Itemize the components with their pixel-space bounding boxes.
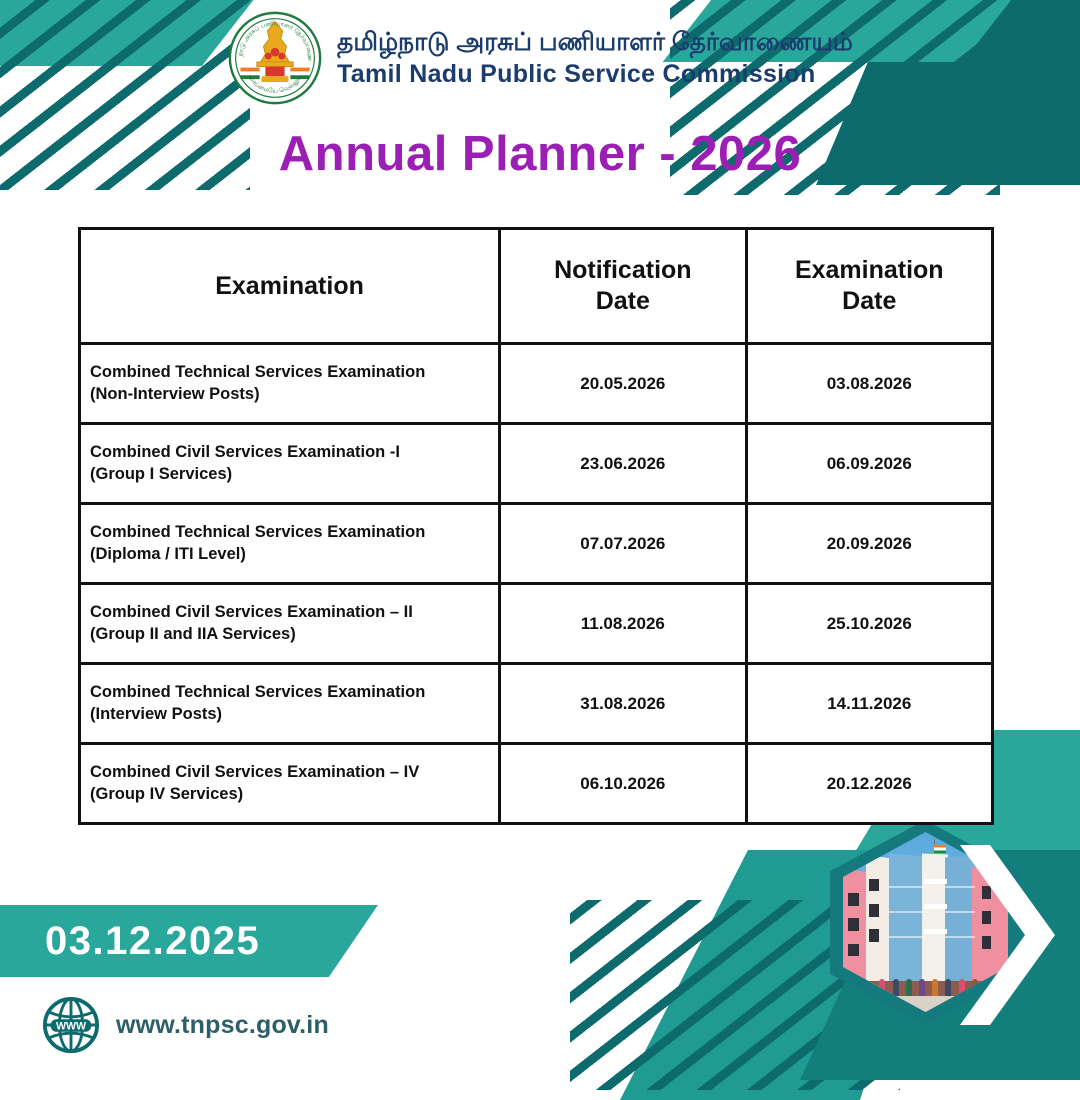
table-row: Combined Technical Services Examination … (80, 664, 993, 744)
building-left-white (866, 855, 896, 1000)
col-header-examination-date-line1: Examination (748, 255, 991, 286)
website-row[interactable]: WWW www.tnpsc.gov.in (42, 996, 329, 1054)
col-header-examination-date: Examination Date (746, 229, 992, 344)
table-row: Combined Civil Services Examination – IV… (80, 744, 993, 824)
brand-title-tamil: தமிழ்நாடு அரசுப் பணியாளர் தேர்வாணையம் (337, 28, 853, 57)
table-row: Combined Technical Services Examination … (80, 504, 993, 584)
cell-examination-date: 20.09.2026 (746, 504, 992, 584)
cell-notification-date: 31.08.2026 (500, 664, 746, 744)
table-row: Combined Civil Services Examination -I (… (80, 424, 993, 504)
building-right-wing (972, 865, 1008, 983)
header: தமிழ்நாடு அரசுப் பணியாளர் தேர்வாணையம் வா… (0, 8, 1080, 108)
cell-examination-date: 14.11.2026 (746, 664, 992, 744)
exam-name-line2: (Interview Posts) (90, 704, 498, 726)
india-flag-icon (934, 845, 946, 853)
table-row: Combined Civil Services Examination – II… (80, 584, 993, 664)
cell-examination-date: 25.10.2026 (746, 584, 992, 664)
tnpsc-building-photo (843, 832, 1008, 1012)
exam-name-line1: Combined Technical Services Examination (90, 522, 498, 544)
col-header-examination: Examination (80, 229, 500, 344)
globe-www-label: WWW (56, 1020, 87, 1032)
brand-title-english: Tamil Nadu Public Service Commission (337, 60, 853, 89)
photo-sky (843, 832, 1008, 1012)
exam-name-line2: (Group I Services) (90, 464, 498, 486)
cell-notification-date: 06.10.2026 (500, 744, 746, 824)
table-header-row: Examination Notification Date Examinatio… (80, 229, 993, 344)
cell-notification-date: 23.06.2026 (500, 424, 746, 504)
page-title: Annual Planner - 2026 (0, 126, 1080, 182)
cell-exam-name: Combined Technical Services Examination … (80, 664, 500, 744)
col-header-examination-date-line2: Date (748, 286, 991, 317)
exam-name-line1: Combined Civil Services Examination -I (90, 442, 498, 464)
cell-notification-date: 07.07.2026 (500, 504, 746, 584)
cell-exam-name: Combined Technical Services Examination … (80, 344, 500, 424)
bottom-right-mid-teal-shape (620, 850, 940, 1100)
building-plaza (843, 996, 1008, 1012)
website-url[interactable]: www.tnpsc.gov.in (116, 1011, 329, 1040)
exam-name-line1: Combined Technical Services Examination (90, 682, 498, 704)
flag-pole (934, 839, 936, 848)
annual-planner-table-wrap: Examination Notification Date Examinatio… (78, 227, 994, 825)
cell-exam-name: Combined Civil Services Examination – II… (80, 584, 500, 664)
table-row: Combined Technical Services Examination … (80, 344, 993, 424)
cell-exam-name: Combined Civil Services Examination – IV… (80, 744, 500, 824)
building-left-wing (843, 868, 893, 1005)
bottom-right-stripes (570, 900, 900, 1090)
brand-text: தமிழ்நாடு அரசுப் பணியாளர் தேர்வாணையம் Ta… (337, 28, 853, 89)
building-glass-right (945, 857, 975, 988)
exam-name-line1: Combined Civil Services Examination – II (90, 602, 498, 624)
exam-name-line1: Combined Civil Services Examination – IV (90, 762, 498, 784)
bottom-right-stripe-pattern (570, 900, 900, 1090)
exam-name-line2: (Diploma / ITI Level) (90, 544, 498, 566)
exam-name-line2: (Non-Interview Posts) (90, 384, 498, 406)
col-header-notification-date-line2: Date (501, 286, 744, 317)
cell-exam-name: Combined Civil Services Examination -I (… (80, 424, 500, 504)
cell-examination-date: 03.08.2026 (746, 344, 992, 424)
release-date-text: 03.12.2025 (45, 919, 260, 964)
building-center (922, 853, 948, 991)
cell-exam-name: Combined Technical Services Examination … (80, 504, 500, 584)
cell-notification-date: 20.05.2026 (500, 344, 746, 424)
exam-name-line1: Combined Technical Services Examination (90, 362, 498, 384)
col-header-notification-date-line1: Notification (501, 255, 744, 286)
cell-notification-date: 11.08.2026 (500, 584, 746, 664)
cell-examination-date: 20.12.2026 (746, 744, 992, 824)
exam-name-line2: (Group II and IIA Services) (90, 624, 498, 646)
col-header-notification-date: Notification Date (500, 229, 746, 344)
globe-icon: WWW (42, 996, 100, 1054)
exam-name-line2: (Group IV Services) (90, 784, 498, 806)
release-date-banner: 03.12.2025 (0, 905, 378, 977)
building-base (843, 981, 1008, 1012)
tnpsc-emblem-icon: தமிழ்நாடு அரசுப் பணியாளர் தேர்வாணையம் வா… (227, 10, 323, 106)
bottom-right-dark-teal-shape (800, 850, 1080, 1080)
chevron-arrow-icon (950, 835, 1070, 1035)
cell-examination-date: 06.09.2026 (746, 424, 992, 504)
hexagon-frame (830, 820, 1020, 1025)
building-glass-left (889, 853, 925, 997)
annual-planner-table: Examination Notification Date Examinatio… (78, 227, 994, 825)
